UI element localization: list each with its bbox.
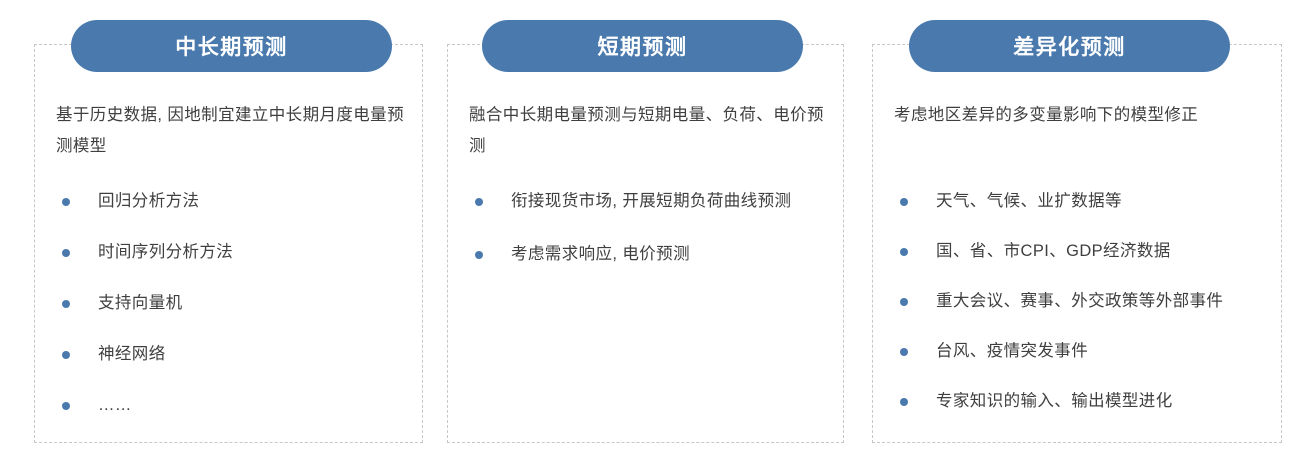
list-item: 神经网络 [56, 339, 406, 370]
bullet-dot-icon [475, 198, 483, 206]
list-item: 时间序列分析方法 [56, 237, 406, 268]
bullet-list-medium-long-term: 回归分析方法 时间序列分析方法 支持向量机 神经网络 …… [56, 186, 406, 441]
bullet-dot-icon [475, 251, 483, 259]
list-item-label: 衔接现货市场, 开展短期负荷曲线预测 [511, 186, 827, 217]
panel-title-label: 中长期预测 [175, 31, 288, 61]
panel-summary-short-term: 融合中长期电量预测与短期电量、负荷、电价预测 [469, 100, 825, 162]
panel-summary-medium-long-term: 基于历史数据, 因地制宜建立中长期月度电量预测模型 [56, 100, 404, 162]
list-item: 台风、疫情突发事件 [894, 336, 1269, 367]
list-item-label: 考虑需求响应, 电价预测 [511, 239, 827, 270]
bullet-dot-icon [62, 249, 70, 257]
list-item-label: 神经网络 [98, 339, 406, 370]
bullet-dot-icon [900, 198, 908, 206]
list-item: …… [56, 390, 406, 421]
bullet-dot-icon [62, 198, 70, 206]
bullet-dot-icon [62, 351, 70, 359]
bullet-list-short-term: 衔接现货市场, 开展短期负荷曲线预测 考虑需求响应, 电价预测 [469, 186, 827, 292]
list-item: 国、省、市CPI、GDP经济数据 [894, 236, 1269, 267]
list-item: 考虑需求响应, 电价预测 [469, 239, 827, 270]
panel-title-label: 差异化预测 [1013, 31, 1126, 61]
list-item: 衔接现货市场, 开展短期负荷曲线预测 [469, 186, 827, 217]
list-item-label: 国、省、市CPI、GDP经济数据 [936, 236, 1269, 267]
list-item: 重大会议、赛事、外交政策等外部事件 [894, 286, 1269, 317]
list-item-label: 专家知识的输入、输出模型进化 [936, 386, 1269, 417]
bullet-dot-icon [900, 398, 908, 406]
forecast-capability-board: 中长期预测 基于历史数据, 因地制宜建立中长期月度电量预测模型 回归分析方法 时… [0, 0, 1305, 464]
list-item-label: …… [98, 390, 406, 421]
panel-summary-differentiated: 考虑地区差异的多变量影响下的模型修正 [894, 100, 1264, 131]
bullet-list-differentiated: 天气、气候、业扩数据等 国、省、市CPI、GDP经济数据 重大会议、赛事、外交政… [894, 186, 1269, 436]
panel-title-short-term: 短期预测 [482, 20, 803, 72]
panel-title-label: 短期预测 [598, 31, 688, 61]
bullet-dot-icon [62, 300, 70, 308]
list-item-label: 天气、气候、业扩数据等 [936, 186, 1269, 217]
list-item: 支持向量机 [56, 288, 406, 319]
list-item: 天气、气候、业扩数据等 [894, 186, 1269, 217]
list-item: 专家知识的输入、输出模型进化 [894, 386, 1269, 417]
list-item-label: 回归分析方法 [98, 186, 406, 217]
list-item: 回归分析方法 [56, 186, 406, 217]
list-item-label: 重大会议、赛事、外交政策等外部事件 [936, 286, 1269, 317]
bullet-dot-icon [900, 348, 908, 356]
bullet-dot-icon [900, 248, 908, 256]
list-item-label: 台风、疫情突发事件 [936, 336, 1269, 367]
bullet-dot-icon [900, 298, 908, 306]
panel-title-medium-long-term: 中长期预测 [71, 20, 392, 72]
list-item-label: 支持向量机 [98, 288, 406, 319]
bullet-dot-icon [62, 402, 70, 410]
panel-title-differentiated: 差异化预测 [909, 20, 1230, 72]
list-item-label: 时间序列分析方法 [98, 237, 406, 268]
